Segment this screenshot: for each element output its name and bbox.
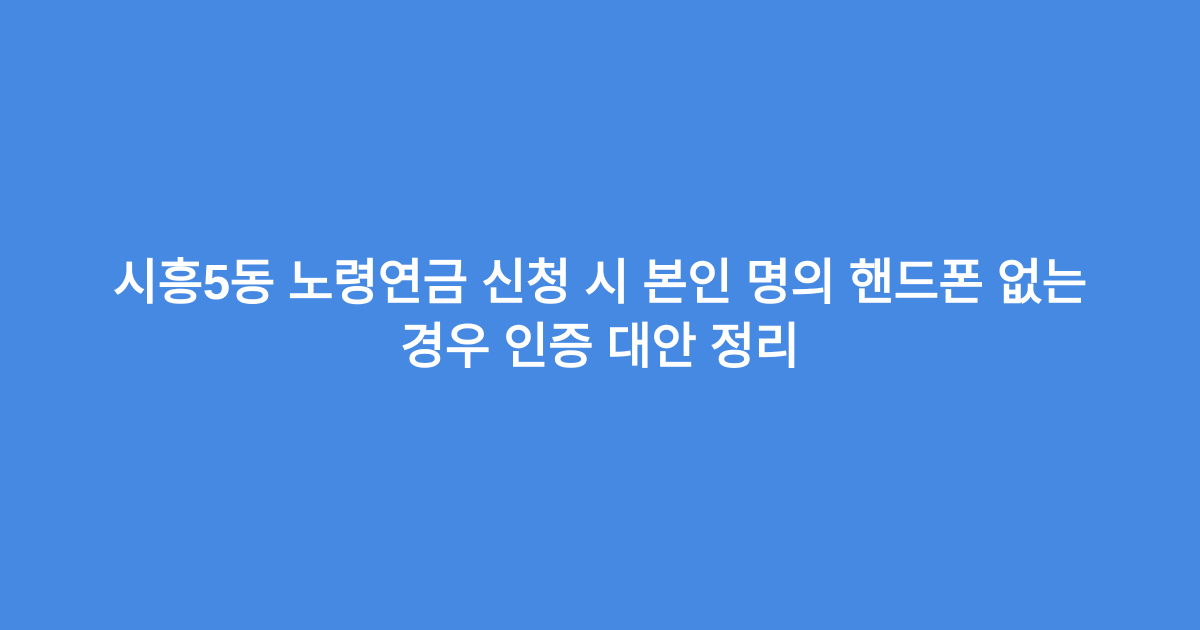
og-card: 시흥5동 노령연금 신청 시 본인 명의 핸드폰 없는 경우 인증 대안 정리	[0, 0, 1200, 630]
page-title: 시흥5동 노령연금 신청 시 본인 명의 핸드폰 없는 경우 인증 대안 정리	[70, 251, 1130, 379]
title-block: 시흥5동 노령연금 신청 시 본인 명의 핸드폰 없는 경우 인증 대안 정리	[70, 251, 1130, 379]
